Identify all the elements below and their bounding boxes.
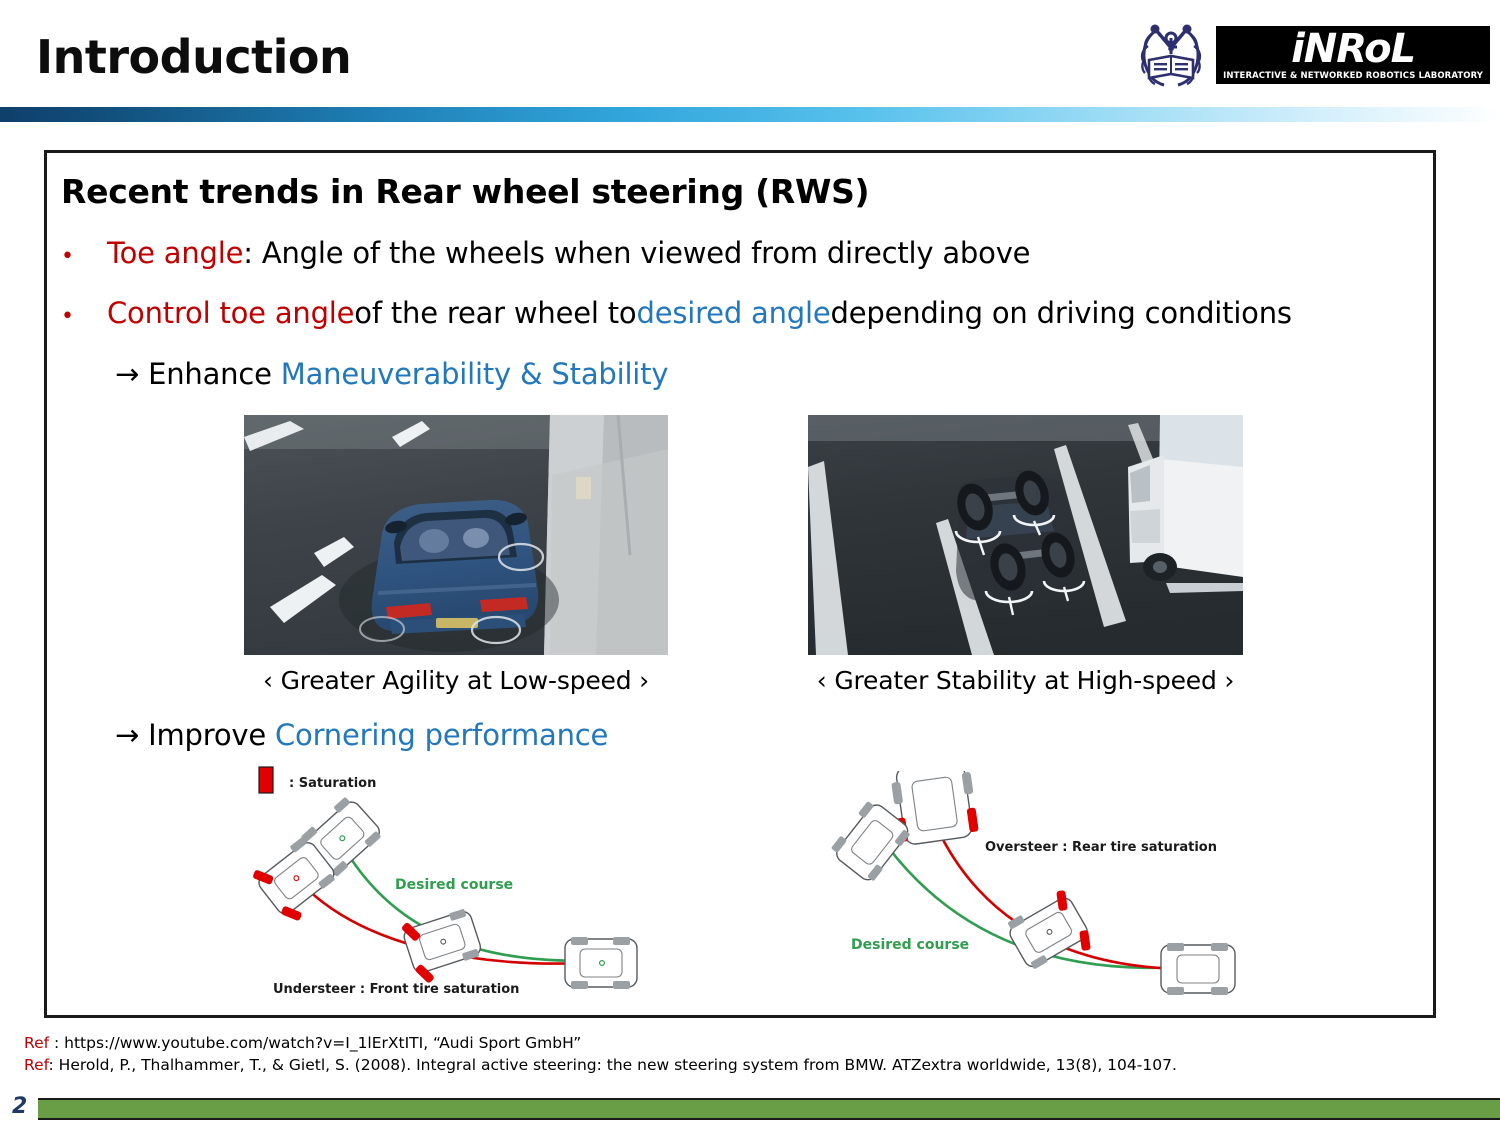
ref-tag-1: Ref [24,1034,49,1052]
bullet-item-control-toe-angle: • Control toe angle of the rear wheel to… [47,296,1292,330]
inrol-tagline: INTERACTIVE & NETWORKED ROBOTICS LABORAT… [1223,72,1483,81]
photo-high-speed [808,415,1243,655]
understeer-label: Understeer : Front tire saturation [273,982,519,997]
diagram-oversteer: .carOutline2 { fill:#ffffff; stroke:#555… [817,771,1257,1001]
diagram-understeer: .carOutline { fill:#ffffff; stroke:#555a… [247,761,677,1001]
reference-line-1: Ref : https://www.youtube.com/watch?v=I_… [24,1032,1177,1054]
arrow-2-lead: Improve [139,718,275,752]
arrow-2-emphasis: Cornering performance [275,718,608,752]
inrol-logo: iNRoL INTERACTIVE & NETWORKED ROBOTICS L… [1216,26,1490,84]
page-number: 2 [12,1094,27,1119]
content-frame: Recent trends in Rear wheel steering (RW… [44,150,1436,1018]
footer-bar [38,1098,1500,1120]
photo-low-speed [244,415,668,655]
bullet-marker-icon: • [47,304,107,329]
ref-tag-2: Ref [24,1056,49,1074]
reference-line-2: Ref: Herold, P., Thalhammer, T., & Gietl… [24,1054,1177,1076]
arrow-1-emphasis: Maneuverability & Stability [281,357,669,391]
bullet-1-highlight: Toe angle [107,236,243,270]
ref-text-1: : https://www.youtube.com/watch?v=I_1lEr… [49,1034,581,1052]
page-title: Introduction [36,30,351,84]
arrow-right-icon: → [115,718,139,752]
bullet-2-mid: of the rear wheel to [354,296,636,330]
arrow-1-lead: Enhance [139,357,281,391]
bullet-2-highlight: Control toe angle [107,296,354,330]
content-heading: Recent trends in Rear wheel steering (RW… [61,172,869,211]
arrow-item-enhance: → Enhance Maneuverability & Stability [115,357,668,391]
desired-course-label-right: Desired course [851,937,969,953]
bullet-1-rest: : Angle of the wheels when viewed from d… [243,236,1030,270]
snu-emblem-icon [1132,16,1210,94]
arrow-right-icon: → [115,357,139,391]
bullet-marker-icon: • [47,244,107,269]
caption-high-speed: ‹ Greater Stability at High-speed › [803,666,1248,695]
inrol-wordmark: iNRoL [1223,30,1483,69]
bullet-item-toe-angle: • Toe angle : Angle of the wheels when v… [47,236,1030,270]
legend-saturation-label: : Saturation [289,776,376,791]
desired-course-label-left: Desired course [395,877,513,893]
caption-low-speed: ‹ Greater Agility at Low-speed › [239,666,673,695]
title-divider-bar [0,107,1500,122]
bullet-2-rest: depending on driving conditions [831,296,1292,330]
oversteer-label: Oversteer : Rear tire saturation [985,840,1217,855]
arrow-item-improve: → Improve Cornering performance [115,718,608,752]
ref-text-2: : Herold, P., Thalhammer, T., & Gietl, S… [49,1056,1177,1074]
bullet-2-emphasis: desired angle [636,296,830,330]
references-block: Ref : https://www.youtube.com/watch?v=I_… [24,1032,1177,1076]
logo-group: iNRoL INTERACTIVE & NETWORKED ROBOTICS L… [1132,14,1490,96]
